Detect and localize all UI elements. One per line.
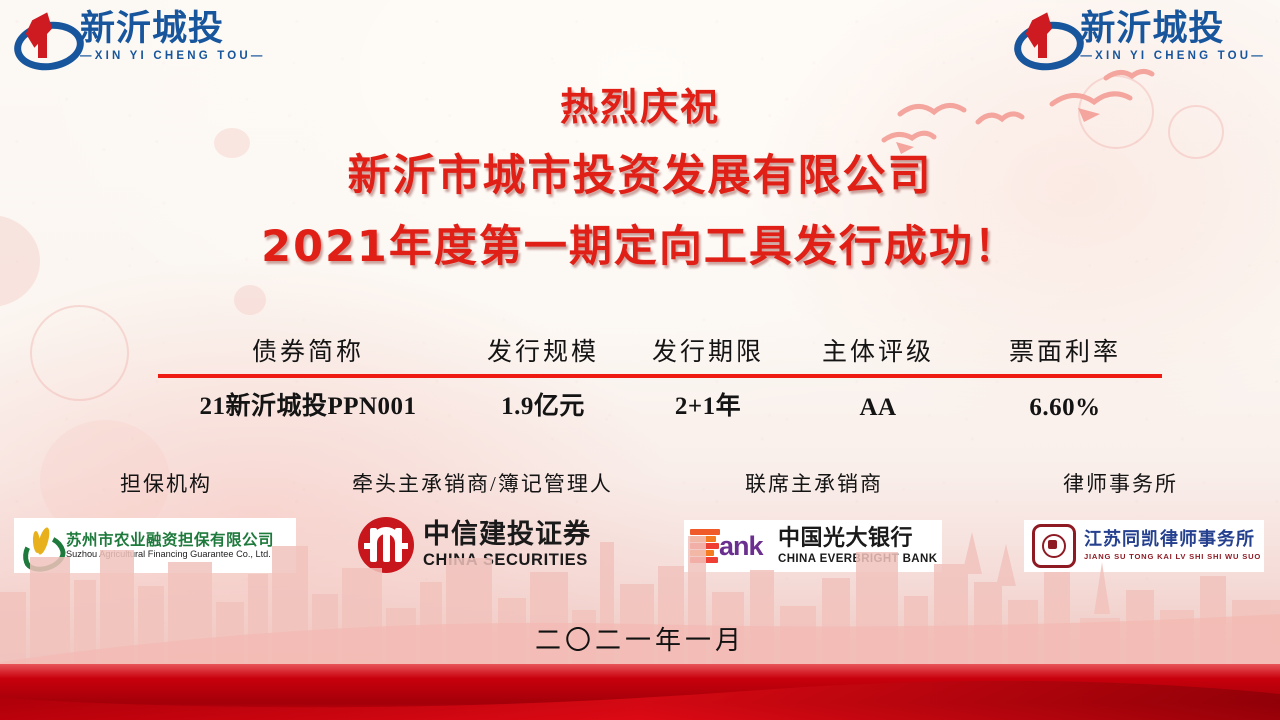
table-header-cell: 债券简称 (158, 332, 458, 372)
wheat-swirl-icon (20, 526, 60, 566)
table-row: 21新沂城投PPN001 1.9亿元 2+1年 AA 6.60% (158, 378, 1162, 422)
table-header-cell: 发行规模 (458, 332, 628, 372)
everbright-b-icon: ank (690, 527, 770, 565)
partner-logo-suzhou-guarantee: 苏州市农业融资担保有限公司 Suzhou Agricultural Financ… (14, 518, 296, 573)
bond-info-table: 债券简称 发行规模 发行期限 主体评级 票面利率 21新沂城投PPN001 1.… (158, 332, 1162, 422)
logo-pinyin: —XIN YI CHENG TOU— (80, 51, 266, 63)
company-emblem-icon (1012, 8, 1072, 66)
headline-line-2: 新沂市城市投资发展有限公司 (0, 155, 1280, 198)
red-ribbon-decor (0, 664, 1280, 720)
decor-ring-1 (30, 305, 129, 401)
partner-logo-cn-text: 中信建投证券 (423, 521, 591, 549)
table-header-cell: 票面利率 (968, 332, 1162, 372)
headline-block: 热烈庆祝 新沂市城市投资发展有限公司 2021年度第一期定向工具发行成功！ (0, 88, 1280, 269)
partner-label-law-firm: 律师事务所 (1063, 468, 1178, 498)
partner-logo-china-securities: 中信建投证券 CHINA SECURITIES (358, 514, 608, 576)
partner-label-joint-underwriter: 联席主承销商 (745, 468, 883, 498)
logo-top-right: 新沂城投 —XIN YI CHENG TOU— (1012, 8, 1266, 66)
company-emblem-icon (12, 8, 72, 66)
decor-blob-3 (234, 285, 266, 315)
table-header-cell: 发行期限 (628, 332, 788, 372)
table-cell-term: 2+1年 (628, 378, 788, 422)
everbright-wordmark: ank (719, 531, 763, 562)
partner-label-guarantor: 担保机构 (120, 468, 212, 498)
citic-circle-icon (358, 517, 414, 573)
logo-top-left: 新沂城投 —XIN YI CHENG TOU— (12, 8, 266, 66)
poster-canvas: 新沂城投 —XIN YI CHENG TOU— 新沂城投 —XIN YI CHE… (0, 0, 1280, 720)
partner-logo-cn-text: 中国光大银行 (778, 527, 937, 550)
logo-chinese-name: 新沂城投 (80, 12, 266, 47)
table-cell-bond-name: 21新沂城投PPN001 (158, 378, 458, 422)
partner-logo-en-text: JIANG SU TONG KAI LV SHI SHI WU SUO (1084, 553, 1261, 561)
partner-label-lead-underwriter: 牵头主承销商/簿记管理人 (352, 468, 613, 498)
logo-chinese-name: 新沂城投 (1080, 12, 1266, 47)
table-cell-coupon-rate: 6.60% (968, 386, 1162, 422)
partner-logo-tongkai-law-firm: 江苏同凯律师事务所 JIANG SU TONG KAI LV SHI SHI W… (1024, 520, 1264, 572)
logo-pinyin: —XIN YI CHENG TOU— (1080, 51, 1266, 63)
table-cell-rating: AA (788, 386, 968, 422)
headline-line-3: 2021年度第一期定向工具发行成功！ (0, 226, 1280, 269)
partner-logo-cn-text: 江苏同凯律师事务所 (1084, 531, 1261, 550)
partner-logo-everbright-bank: ank 中国光大银行 CHINA EVERBRIGHT BANK (684, 520, 942, 572)
partner-logo-en-text: Suzhou Agricultural Financing Guarantee … (66, 550, 274, 560)
chinese-seal-icon (1032, 524, 1076, 568)
table-header-cell: 主体评级 (788, 332, 968, 372)
table-cell-issue-size: 1.9亿元 (458, 378, 628, 422)
partner-label-row: 担保机构 牵头主承销商/簿记管理人 联席主承销商 律师事务所 (0, 468, 1280, 494)
partner-logo-cn-text: 苏州市农业融资担保有限公司 (66, 532, 274, 548)
partner-logo-en-text: CHINA EVERBRIGHT BANK (778, 553, 937, 565)
issue-date: 二〇二一年一月 (0, 620, 1280, 657)
partner-logo-en-text: CHINA SECURITIES (423, 552, 591, 569)
table-header-row: 债券简称 发行规模 发行期限 主体评级 票面利率 (158, 332, 1162, 372)
headline-line-1: 热烈庆祝 (0, 88, 1280, 126)
